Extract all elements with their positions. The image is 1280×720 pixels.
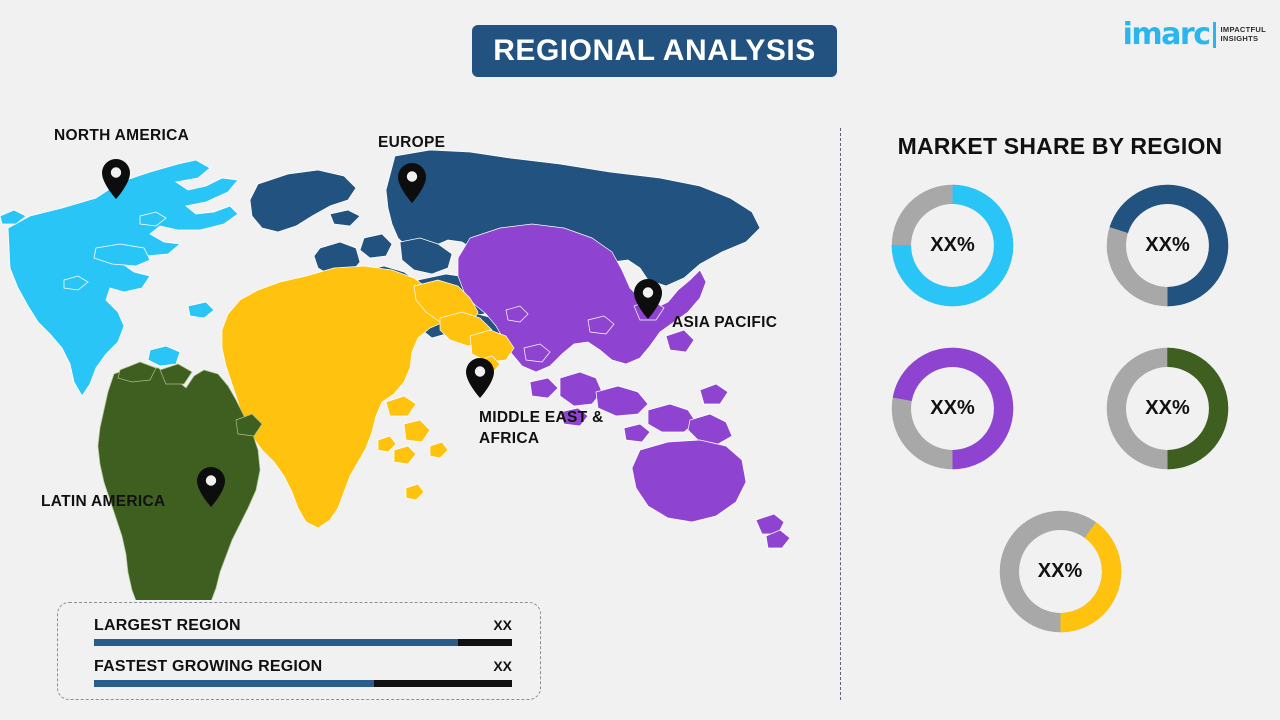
logo-tagline: IMPACTFUL INSIGHTS bbox=[1221, 26, 1266, 43]
legend-bar-largest-region bbox=[94, 639, 512, 646]
legend-bar-fill-largest-region bbox=[94, 639, 458, 646]
donut-label-north-america: XX% bbox=[885, 178, 1020, 313]
legend-value-largest-region: XX bbox=[493, 617, 512, 633]
brand-logo: imarc IMPACTFUL INSIGHTS bbox=[1123, 18, 1266, 52]
map-label-latin-america: LATIN AMERICA bbox=[41, 492, 165, 513]
map-pin-asia-pacific-icon bbox=[633, 278, 663, 320]
donut-row-1: XX% XX% bbox=[860, 178, 1260, 313]
donut-chart-europe: XX% bbox=[1100, 178, 1235, 313]
donut-chart-middle-east-africa: XX% bbox=[993, 504, 1128, 639]
map-pin-latin-america-icon bbox=[196, 466, 226, 508]
logo-tagline-line2: INSIGHTS bbox=[1221, 35, 1266, 44]
donut-label-asia-pacific: XX% bbox=[885, 341, 1020, 476]
page-title: REGIONAL ANALYSIS bbox=[493, 34, 815, 68]
donut-label-latin-america: XX% bbox=[1100, 341, 1235, 476]
legend-row-fastest-growing-region: FASTEST GROWING REGION XX bbox=[94, 658, 512, 687]
market-share-heading: MARKET SHARE BY REGION bbox=[840, 133, 1280, 160]
donut-chart-north-america: XX% bbox=[885, 178, 1020, 313]
legend-label-largest-region: LARGEST REGION bbox=[94, 617, 241, 635]
map-pin-north-america-icon bbox=[101, 158, 131, 200]
donut-row-3: XX% bbox=[860, 504, 1260, 639]
legend-bar-fastest-growing-region bbox=[94, 680, 512, 687]
logo-divider-bar bbox=[1213, 22, 1216, 48]
map-label-north-america: NORTH AMERICA bbox=[54, 126, 189, 147]
map-label-middle-east-africa: MIDDLE EAST & AFRICA bbox=[479, 408, 639, 450]
donut-chart-latin-america: XX% bbox=[1100, 341, 1235, 476]
donut-chart-asia-pacific: XX% bbox=[885, 341, 1020, 476]
legend-row-largest-region: LARGEST REGION XX bbox=[94, 617, 512, 646]
map-region-asia-pacific bbox=[458, 224, 790, 548]
region-legend-box: LARGEST REGION XX FASTEST GROWING REGION… bbox=[57, 602, 541, 700]
map-pin-europe-icon bbox=[397, 162, 427, 204]
legend-label-fastest-growing-region: FASTEST GROWING REGION bbox=[94, 658, 322, 676]
legend-value-fastest-growing-region: XX bbox=[493, 658, 512, 674]
donut-row-2: XX% XX% bbox=[860, 341, 1260, 476]
logo-wordmark: imarc bbox=[1123, 20, 1210, 50]
panel-divider bbox=[840, 128, 841, 700]
legend-bar-fill-fastest-growing-region bbox=[94, 680, 374, 687]
map-pin-middle-east-africa-icon bbox=[465, 357, 495, 399]
page-title-bar: REGIONAL ANALYSIS bbox=[472, 25, 837, 77]
donut-label-europe: XX% bbox=[1100, 178, 1235, 313]
donut-chart-grid: XX% XX% XX% XX% XX% bbox=[860, 178, 1260, 667]
donut-label-middle-east-africa: XX% bbox=[993, 504, 1128, 639]
map-label-asia-pacific: ASIA PACIFIC bbox=[672, 313, 777, 334]
map-label-europe: EUROPE bbox=[378, 133, 445, 154]
